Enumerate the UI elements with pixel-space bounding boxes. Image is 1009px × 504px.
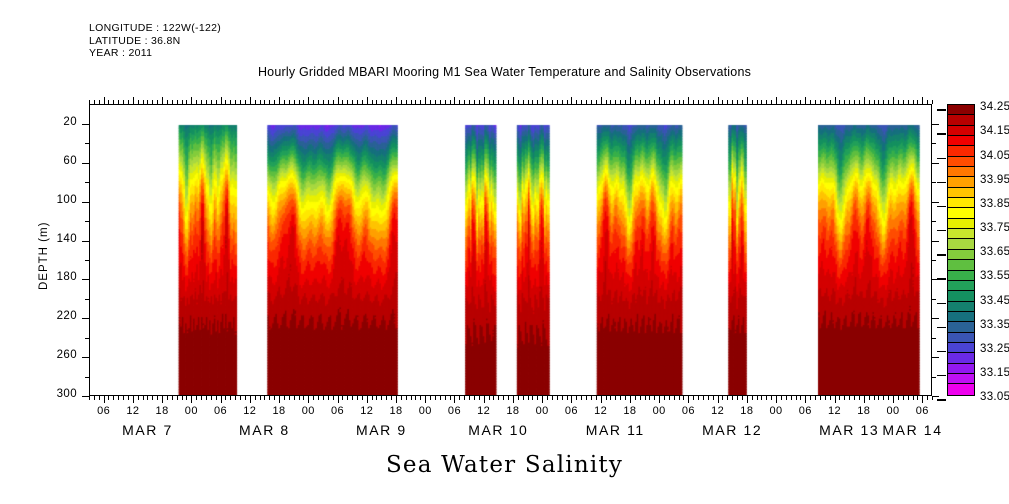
x-axis-tick-top xyxy=(489,100,490,104)
x-axis-tick-top xyxy=(908,100,909,104)
x-axis-tick xyxy=(761,396,762,400)
x-axis-tick xyxy=(450,396,451,400)
x-axis-tick xyxy=(260,396,261,400)
x-axis-tick xyxy=(201,396,202,400)
x-axis-tick xyxy=(903,396,904,400)
x-axis-tick-top xyxy=(839,100,840,104)
x-axis-tick-top xyxy=(104,97,105,104)
x-axis-tick-top xyxy=(143,100,144,104)
y-axis-tick xyxy=(85,221,89,222)
colorbar-segment xyxy=(948,146,974,156)
x-axis-tick-top xyxy=(308,97,309,104)
colorbar-segment xyxy=(948,219,974,229)
x-axis-tick-top xyxy=(318,100,319,104)
x-axis-tick xyxy=(352,396,353,400)
x-axis-tick-top xyxy=(284,100,285,104)
y-axis-tick xyxy=(82,124,89,125)
x-axis-tick xyxy=(830,396,831,400)
x-axis-tick xyxy=(118,396,119,400)
x-axis-tick-top xyxy=(221,97,222,104)
x-axis-tick xyxy=(89,396,90,400)
y-axis-tick-right xyxy=(932,202,939,203)
colorbar-tick xyxy=(937,303,946,304)
x-axis-tick xyxy=(440,396,441,400)
x-axis-tick-top xyxy=(396,97,397,104)
x-axis-tick-top xyxy=(844,100,845,104)
colorbar-tick-label: 33.75 xyxy=(980,222,1009,234)
y-axis-depth-label: 20 xyxy=(31,116,77,128)
x-axis-tick xyxy=(674,396,675,400)
y-axis-tick-right xyxy=(932,377,936,378)
x-axis-tick xyxy=(835,396,836,403)
y-axis-tick xyxy=(85,260,89,261)
colorbar-segment xyxy=(948,353,974,363)
x-axis-tick xyxy=(654,396,655,400)
x-axis-tick-top xyxy=(157,100,158,104)
x-axis-tick xyxy=(459,396,460,400)
x-axis-tick-top xyxy=(883,100,884,104)
colorbar-tick xyxy=(937,109,946,110)
x-axis-tick-top xyxy=(601,97,602,104)
x-axis-tick-top xyxy=(913,100,914,104)
x-axis-tick xyxy=(284,396,285,400)
x-axis-tick-top xyxy=(722,100,723,104)
x-axis-tick xyxy=(289,396,290,400)
x-axis-tick xyxy=(484,396,485,403)
x-axis-tick-top xyxy=(737,100,738,104)
x-axis-tick-top xyxy=(313,100,314,104)
x-axis-tick-top xyxy=(874,100,875,104)
x-axis-tick xyxy=(396,396,397,403)
x-axis-tick xyxy=(206,396,207,400)
x-axis-tick-top xyxy=(469,100,470,104)
x-axis-tick xyxy=(498,396,499,400)
x-axis-tick-top xyxy=(372,100,373,104)
x-axis-tick xyxy=(820,396,821,400)
x-axis-tick xyxy=(99,396,100,400)
colorbar-tick xyxy=(937,399,946,400)
x-axis-tick-top xyxy=(362,100,363,104)
colorbar-segment xyxy=(948,260,974,270)
colorbar-tick xyxy=(937,230,946,231)
x-axis-tick-top xyxy=(386,100,387,104)
x-axis-tick xyxy=(323,396,324,400)
x-axis-tick xyxy=(191,396,192,403)
x-axis-tick-top xyxy=(654,100,655,104)
x-axis-tick xyxy=(576,396,577,400)
x-axis-tick xyxy=(571,396,572,403)
y-axis-tick xyxy=(82,163,89,164)
x-axis-tick-top xyxy=(703,100,704,104)
x-axis-tick-top xyxy=(123,100,124,104)
x-axis-tick-top xyxy=(518,100,519,104)
x-axis-tick xyxy=(922,396,923,403)
x-axis-tick xyxy=(630,396,631,403)
x-axis-tick-top xyxy=(94,100,95,104)
x-axis-tick-top xyxy=(147,100,148,104)
x-axis-tick xyxy=(225,396,226,400)
x-axis-tick-top xyxy=(342,100,343,104)
x-axis-tick xyxy=(386,396,387,400)
colorbar-segment xyxy=(948,343,974,353)
x-axis-tick xyxy=(557,396,558,400)
x-axis-tick-top xyxy=(381,100,382,104)
x-axis-tick xyxy=(732,396,733,400)
x-axis-tick-top xyxy=(747,97,748,104)
x-axis-tick xyxy=(216,396,217,400)
x-axis-tick-top xyxy=(303,100,304,104)
y-axis-tick-right xyxy=(932,338,936,339)
x-axis-tick-top xyxy=(138,100,139,104)
x-axis-tick xyxy=(518,396,519,400)
x-axis-tick xyxy=(620,396,621,400)
colorbar-segment xyxy=(948,291,974,301)
x-axis-tick-top xyxy=(571,97,572,104)
colorbar-tick-label: 33.15 xyxy=(980,367,1009,379)
colorbar-tick xyxy=(937,375,946,376)
y-axis-tick-right xyxy=(932,299,936,300)
x-axis-tick xyxy=(552,396,553,400)
colorbar-segment xyxy=(948,302,974,312)
x-axis-tick-top xyxy=(425,97,426,104)
x-axis-tick-top xyxy=(820,100,821,104)
x-axis-tick-top xyxy=(357,100,358,104)
plot-caption: Sea Water Salinity xyxy=(0,452,1009,478)
x-axis-tick-top xyxy=(576,100,577,104)
y-axis-tick-right xyxy=(932,221,936,222)
x-axis-tick-top xyxy=(606,100,607,104)
colorbar-segment xyxy=(948,157,974,167)
x-axis-tick xyxy=(391,396,392,400)
y-axis-tick-right xyxy=(932,318,939,319)
x-axis-tick xyxy=(718,396,719,403)
x-axis-tick xyxy=(781,396,782,400)
x-axis-tick-top xyxy=(932,100,933,104)
x-axis-tick xyxy=(479,396,480,400)
colorbar-segment xyxy=(948,333,974,343)
x-axis-tick-top xyxy=(250,97,251,104)
x-axis-tick-top xyxy=(757,100,758,104)
x-axis-tick xyxy=(664,396,665,400)
colorbar-segment xyxy=(948,198,974,208)
x-axis-tick xyxy=(362,396,363,400)
colorbar-tick xyxy=(937,158,946,159)
y-axis-tick xyxy=(82,396,89,397)
colorbar-segment xyxy=(948,374,974,384)
x-axis-tick xyxy=(240,396,241,400)
x-axis-tick xyxy=(318,396,319,400)
x-axis-tick-top xyxy=(508,100,509,104)
x-axis-tick-top xyxy=(274,100,275,104)
x-axis-tick-top xyxy=(596,100,597,104)
x-axis-tick-top xyxy=(420,100,421,104)
x-axis-tick xyxy=(162,396,163,403)
x-axis-tick xyxy=(411,396,412,400)
x-axis-tick xyxy=(679,396,680,400)
x-axis-tick xyxy=(269,396,270,400)
x-axis-tick xyxy=(493,396,494,400)
x-axis-tick-top xyxy=(732,100,733,104)
x-axis-tick xyxy=(221,396,222,403)
x-axis-tick xyxy=(883,396,884,400)
y-axis-tick xyxy=(82,241,89,242)
x-axis-tick-top xyxy=(869,100,870,104)
x-axis-tick-top xyxy=(206,100,207,104)
x-axis-tick-top xyxy=(640,100,641,104)
x-axis-tick-top xyxy=(128,100,129,104)
x-axis-tick xyxy=(786,396,787,400)
x-axis-tick-top xyxy=(240,100,241,104)
x-axis-tick-top xyxy=(430,100,431,104)
colorbar-tick-label: 33.35 xyxy=(980,319,1009,331)
x-axis-tick xyxy=(601,396,602,403)
colorbar-tick xyxy=(937,182,946,183)
x-axis-tick-top xyxy=(679,100,680,104)
x-axis-tick xyxy=(874,396,875,400)
year-text: YEAR : 2011 xyxy=(89,47,221,60)
x-axis-tick xyxy=(640,396,641,400)
x-axis-tick xyxy=(757,396,758,400)
x-axis-tick-top xyxy=(167,100,168,104)
x-axis-tick xyxy=(425,396,426,403)
x-axis-tick xyxy=(235,396,236,400)
x-axis-tick-top xyxy=(211,100,212,104)
x-axis-tick xyxy=(104,396,105,403)
colorbar-tick-label: 33.05 xyxy=(980,391,1009,403)
x-axis-tick xyxy=(844,396,845,400)
colorbar-segment xyxy=(948,105,974,115)
x-axis-tick-top xyxy=(635,100,636,104)
x-axis-tick xyxy=(908,396,909,400)
x-axis-tick-top xyxy=(552,100,553,104)
colorbar-tick-label: 33.25 xyxy=(980,343,1009,355)
x-axis-tick-top xyxy=(172,100,173,104)
colorbar-segment xyxy=(948,126,974,136)
y-axis-tick xyxy=(82,279,89,280)
x-axis-tick xyxy=(645,396,646,400)
x-axis-tick-top xyxy=(859,100,860,104)
x-axis-tick-top xyxy=(479,100,480,104)
x-axis-tick xyxy=(108,396,109,400)
colorbar-tick xyxy=(937,254,946,255)
x-axis-tick-top xyxy=(445,100,446,104)
colorbar-tick xyxy=(937,327,946,328)
x-axis-tick-top xyxy=(299,100,300,104)
x-axis-tick-top xyxy=(450,100,451,104)
x-axis-tick-top xyxy=(630,97,631,104)
x-axis-tick-top xyxy=(927,100,928,104)
y-axis-tick xyxy=(85,143,89,144)
x-axis-tick-top xyxy=(289,100,290,104)
x-axis-tick xyxy=(893,396,894,403)
x-axis-tick xyxy=(635,396,636,400)
x-axis-tick xyxy=(698,396,699,400)
x-axis-tick-top xyxy=(766,100,767,104)
x-axis-tick xyxy=(172,396,173,400)
x-axis-tick-top xyxy=(708,100,709,104)
colorbar-tick xyxy=(937,278,946,279)
x-axis-tick-top xyxy=(562,100,563,104)
x-axis-hour-label: 06 xyxy=(902,405,942,417)
x-axis-tick-top xyxy=(245,100,246,104)
x-axis-tick-top xyxy=(294,100,295,104)
x-axis-tick xyxy=(94,396,95,400)
x-axis-tick-top xyxy=(849,100,850,104)
x-axis-tick xyxy=(167,396,168,400)
x-axis-tick-top xyxy=(542,97,543,104)
x-axis-tick-top xyxy=(810,100,811,104)
x-axis-tick-top xyxy=(474,100,475,104)
x-axis-tick xyxy=(328,396,329,400)
y-axis-tick xyxy=(85,338,89,339)
x-axis-tick-top xyxy=(878,100,879,104)
x-axis-tick xyxy=(606,396,607,400)
colorbar-segment xyxy=(948,322,974,332)
x-axis-tick-top xyxy=(805,97,806,104)
x-axis-tick xyxy=(415,396,416,400)
x-axis-tick-top xyxy=(771,100,772,104)
x-axis-tick xyxy=(800,396,801,400)
x-axis-tick xyxy=(596,396,597,400)
colorbar-segment xyxy=(948,167,974,177)
x-axis-tick xyxy=(917,396,918,400)
colorbar-segment xyxy=(948,115,974,125)
x-axis-tick-top xyxy=(367,97,368,104)
x-axis-tick-top xyxy=(649,100,650,104)
colorbar-segment xyxy=(948,229,974,239)
station-metadata: LONGITUDE : 122W(-122) LATITUDE : 36.8N … xyxy=(89,22,221,60)
x-axis-tick xyxy=(532,396,533,400)
colorbar-segment xyxy=(948,250,974,260)
y-axis-tick-right xyxy=(932,163,939,164)
x-axis-tick-top xyxy=(513,97,514,104)
x-axis-tick-top xyxy=(586,100,587,104)
colorbar-segment xyxy=(948,364,974,374)
x-axis-tick-top xyxy=(323,100,324,104)
latitude-text: LATITUDE : 36.8N xyxy=(89,35,221,48)
x-axis-tick xyxy=(703,396,704,400)
salinity-contour-canvas xyxy=(90,105,932,396)
x-axis-tick xyxy=(688,396,689,403)
x-axis-tick-top xyxy=(688,97,689,104)
x-axis-tick-top xyxy=(406,100,407,104)
x-axis-tick xyxy=(250,396,251,403)
x-axis-tick-top xyxy=(191,97,192,104)
colorbar-segment xyxy=(948,136,974,146)
colorbar xyxy=(947,104,975,396)
x-axis-tick xyxy=(864,396,865,403)
x-axis-tick xyxy=(367,396,368,403)
x-axis-tick-top xyxy=(752,100,753,104)
x-axis-tick xyxy=(869,396,870,400)
x-axis-tick xyxy=(810,396,811,400)
x-axis-tick xyxy=(796,396,797,400)
x-axis-tick xyxy=(591,396,592,400)
x-axis-tick xyxy=(508,396,509,400)
x-axis-tick xyxy=(186,396,187,400)
x-axis-tick xyxy=(279,396,280,403)
x-axis-tick xyxy=(586,396,587,400)
x-axis-tick xyxy=(615,396,616,400)
x-axis-tick xyxy=(401,396,402,400)
x-axis-tick-top xyxy=(152,100,153,104)
y-axis-tick-right xyxy=(932,396,939,397)
x-axis-tick xyxy=(581,396,582,400)
y-axis-tick xyxy=(85,377,89,378)
x-axis-tick xyxy=(177,396,178,400)
x-axis-tick xyxy=(255,396,256,400)
x-axis-tick xyxy=(211,396,212,400)
x-axis-tick xyxy=(839,396,840,400)
x-axis-tick-top xyxy=(484,97,485,104)
x-axis-tick-top xyxy=(547,100,548,104)
x-axis-tick xyxy=(152,396,153,400)
x-axis-tick-top xyxy=(615,100,616,104)
x-axis-tick-top xyxy=(796,100,797,104)
colorbar-tick-label: 33.45 xyxy=(980,295,1009,307)
x-axis-tick-top xyxy=(235,100,236,104)
x-axis-tick-top xyxy=(454,97,455,104)
x-axis-tick-top xyxy=(683,100,684,104)
x-axis-tick-top xyxy=(493,100,494,104)
y-axis-tick-right xyxy=(932,143,936,144)
x-axis-tick-top xyxy=(196,100,197,104)
x-axis-tick xyxy=(196,396,197,400)
colorbar-segment xyxy=(948,177,974,187)
x-axis-tick xyxy=(264,396,265,400)
x-axis-tick xyxy=(927,396,928,400)
x-axis-tick-top xyxy=(89,100,90,104)
x-axis-tick xyxy=(333,396,334,400)
x-axis-tick xyxy=(898,396,899,400)
x-axis-tick xyxy=(693,396,694,400)
contour-plot-area xyxy=(89,104,932,396)
x-axis-tick-top xyxy=(230,100,231,104)
colorbar-segment xyxy=(948,281,974,291)
x-axis-tick xyxy=(464,396,465,400)
x-axis-tick xyxy=(649,396,650,400)
x-axis-tick-top xyxy=(713,100,714,104)
x-axis-tick xyxy=(123,396,124,400)
x-axis-tick xyxy=(342,396,343,400)
x-axis-tick xyxy=(308,396,309,403)
x-axis-tick-top xyxy=(893,97,894,104)
x-axis-tick-top xyxy=(620,100,621,104)
y-axis-tick xyxy=(85,182,89,183)
x-axis-tick-top xyxy=(99,100,100,104)
x-axis-tick-top xyxy=(557,100,558,104)
colorbar-tick-label: 33.65 xyxy=(980,246,1009,258)
x-axis-tick xyxy=(128,396,129,400)
x-axis-tick-top xyxy=(162,97,163,104)
x-axis-tick xyxy=(825,396,826,400)
x-axis-tick xyxy=(547,396,548,400)
x-axis-tick-top xyxy=(391,100,392,104)
colorbar-segment xyxy=(948,239,974,249)
y-axis-tick xyxy=(82,318,89,319)
chart-title: Hourly Gridded MBARI Mooring M1 Sea Wate… xyxy=(0,65,1009,79)
y-axis-tick xyxy=(85,299,89,300)
x-axis-tick-top xyxy=(669,100,670,104)
y-axis-tick xyxy=(82,202,89,203)
x-axis-tick-top xyxy=(464,100,465,104)
x-axis-tick-top xyxy=(864,97,865,104)
x-axis-tick-top xyxy=(528,100,529,104)
x-axis-tick-top xyxy=(776,97,777,104)
x-axis-tick xyxy=(430,396,431,400)
x-axis-tick xyxy=(771,396,772,400)
x-axis-tick xyxy=(878,396,879,400)
